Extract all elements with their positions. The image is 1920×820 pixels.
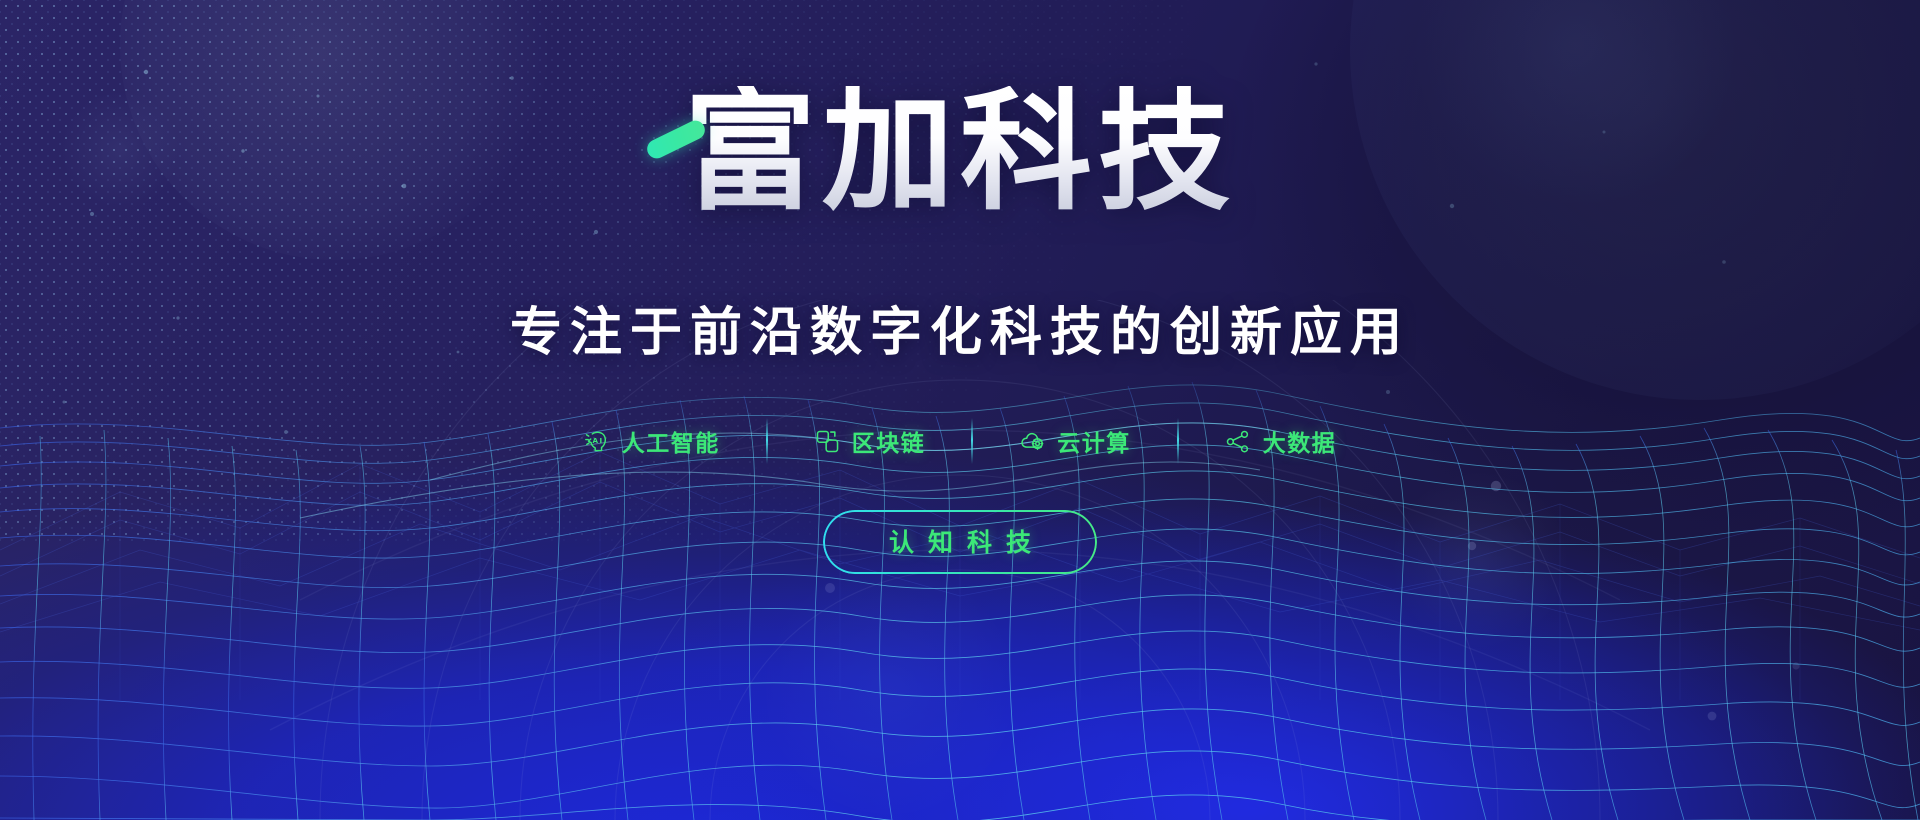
hero-banner: 富加科技 专注于前沿数字化科技的创新应用 AI 人工智能: [0, 0, 1920, 820]
cognitive-tech-badge[interactable]: 认知科技: [823, 510, 1097, 574]
share-network-icon: [1225, 428, 1252, 455]
cloud-gear-icon: [1019, 428, 1046, 455]
banner-content: 富加科技 专注于前沿数字化科技的创新应用 AI 人工智能: [0, 0, 1920, 820]
banner-subtitle: 专注于前沿数字化科技的创新应用: [0, 290, 1920, 365]
feature-tag-label: 云计算: [1057, 424, 1131, 458]
feature-tag-ai[interactable]: AI 人工智能: [538, 424, 766, 458]
feature-tag-bigdata[interactable]: 大数据: [1179, 424, 1383, 458]
brand-logo-text: 富加科技: [684, 86, 1236, 218]
feature-tag-blockchain[interactable]: 区块链: [768, 424, 972, 458]
feature-tag-label: 人工智能: [622, 424, 720, 458]
feature-tag-cloud[interactable]: 云计算: [973, 424, 1177, 458]
feature-tag-label: 大数据: [1263, 424, 1337, 458]
ai-head-icon: AI: [584, 428, 611, 455]
svg-text:AI: AI: [592, 435, 603, 444]
brand-logo: 富加科技: [0, 86, 1920, 218]
feature-tag-label: 区块链: [852, 424, 926, 458]
blockchain-blocks-icon: [814, 428, 841, 455]
feature-tag-list: AI 人工智能 区块链: [0, 418, 1920, 464]
badge-row: 认知科技: [0, 510, 1920, 574]
